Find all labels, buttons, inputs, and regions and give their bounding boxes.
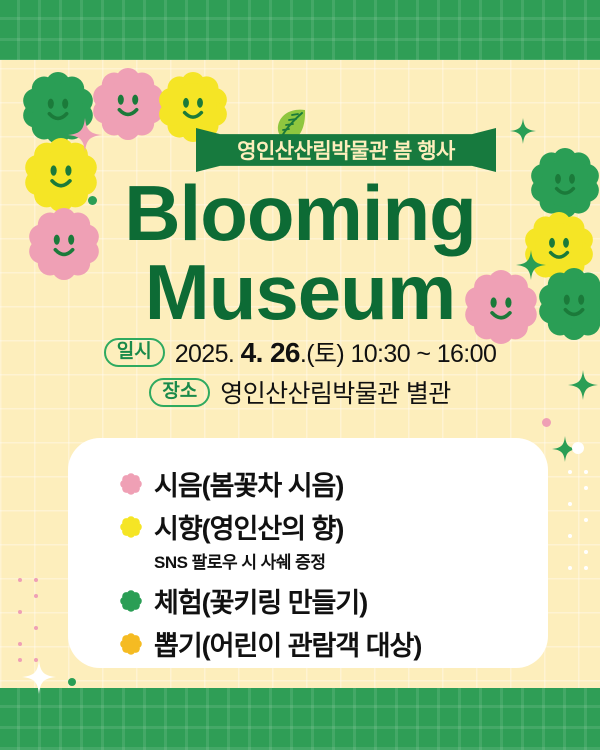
- info-value-part: 영인산산림박물관 별관: [220, 380, 450, 408]
- flower-bullet-green-icon: [120, 590, 142, 612]
- info-value-part: .(토) 10:30 ~ 16:00: [300, 340, 496, 368]
- event-ribbon: 영인산산림박물관 봄 행사: [196, 128, 496, 172]
- program-label: 시향(영인산의 향): [154, 507, 343, 546]
- dotgrid-white-right: [568, 470, 600, 582]
- page-title: Blooming Museum: [0, 176, 600, 330]
- info-badge-date: 일시: [104, 338, 165, 367]
- info-value: 2025. 4. 26.(토) 10:30 ~ 16:00: [175, 334, 497, 370]
- info-value: 영인산산림박물관 별관: [220, 374, 450, 410]
- top-checker-band: [0, 0, 600, 60]
- title-line-2: Museum: [0, 255, 600, 330]
- info-value-part: 2025.: [175, 340, 241, 368]
- title-line-1: Blooming: [124, 169, 476, 257]
- program-card: 시음(봄꽃차 시음)시향(영인산의 향)SNS 팔로우 시 사쉐 증정체험(꽃키…: [68, 438, 548, 668]
- dot-green-2: [68, 678, 76, 686]
- info-row-location: 장소영인산산림박물관 별관: [0, 372, 600, 412]
- poster: 영인산산림박물관 봄 행사 Blooming Museum 일시2025. 4.…: [0, 0, 600, 750]
- program-list: 시음(봄꽃차 시음)시향(영인산의 향)SNS 팔로우 시 사쉐 증정체험(꽃키…: [68, 438, 548, 663]
- program-item: 시음(봄꽃차 시음): [120, 464, 548, 503]
- info-value-part: 4. 26: [241, 337, 300, 368]
- sparkle-pink-1-icon: [68, 118, 102, 152]
- program-item: 시향(영인산의 향): [120, 507, 548, 546]
- flower-pink-1-icon: [92, 68, 164, 140]
- dot-pink-1: [542, 418, 551, 427]
- bottom-checker-band: [0, 688, 600, 750]
- program-label: 뽑기(어린이 관람객 대상): [154, 624, 421, 663]
- ribbon-text: 영인산산림박물관 봄 행사: [196, 128, 496, 172]
- program-item: 체험(꽃키링 만들기): [120, 581, 548, 620]
- flower-bullet-pink-icon: [120, 473, 142, 495]
- dot-white-1: [572, 442, 584, 454]
- info-block: 일시2025. 4. 26.(토) 10:30 ~ 16:00장소영인산산림박물…: [0, 332, 600, 412]
- info-badge-location: 장소: [149, 378, 210, 407]
- program-item: 뽑기(어린이 관람객 대상): [120, 624, 548, 663]
- flower-bullet-orange-icon: [120, 633, 142, 655]
- flower-bullet-yellow-icon: [120, 516, 142, 538]
- program-note: SNS 팔로우 시 사쉐 증정: [154, 548, 548, 573]
- program-label: 체험(꽃키링 만들기): [154, 581, 367, 620]
- sparkle-green-1-icon: [510, 118, 536, 144]
- info-row-date: 일시2025. 4. 26.(토) 10:30 ~ 16:00: [0, 332, 600, 372]
- program-label: 시음(봄꽃차 시음): [154, 464, 343, 503]
- dotgrid-pink-left: [18, 578, 50, 674]
